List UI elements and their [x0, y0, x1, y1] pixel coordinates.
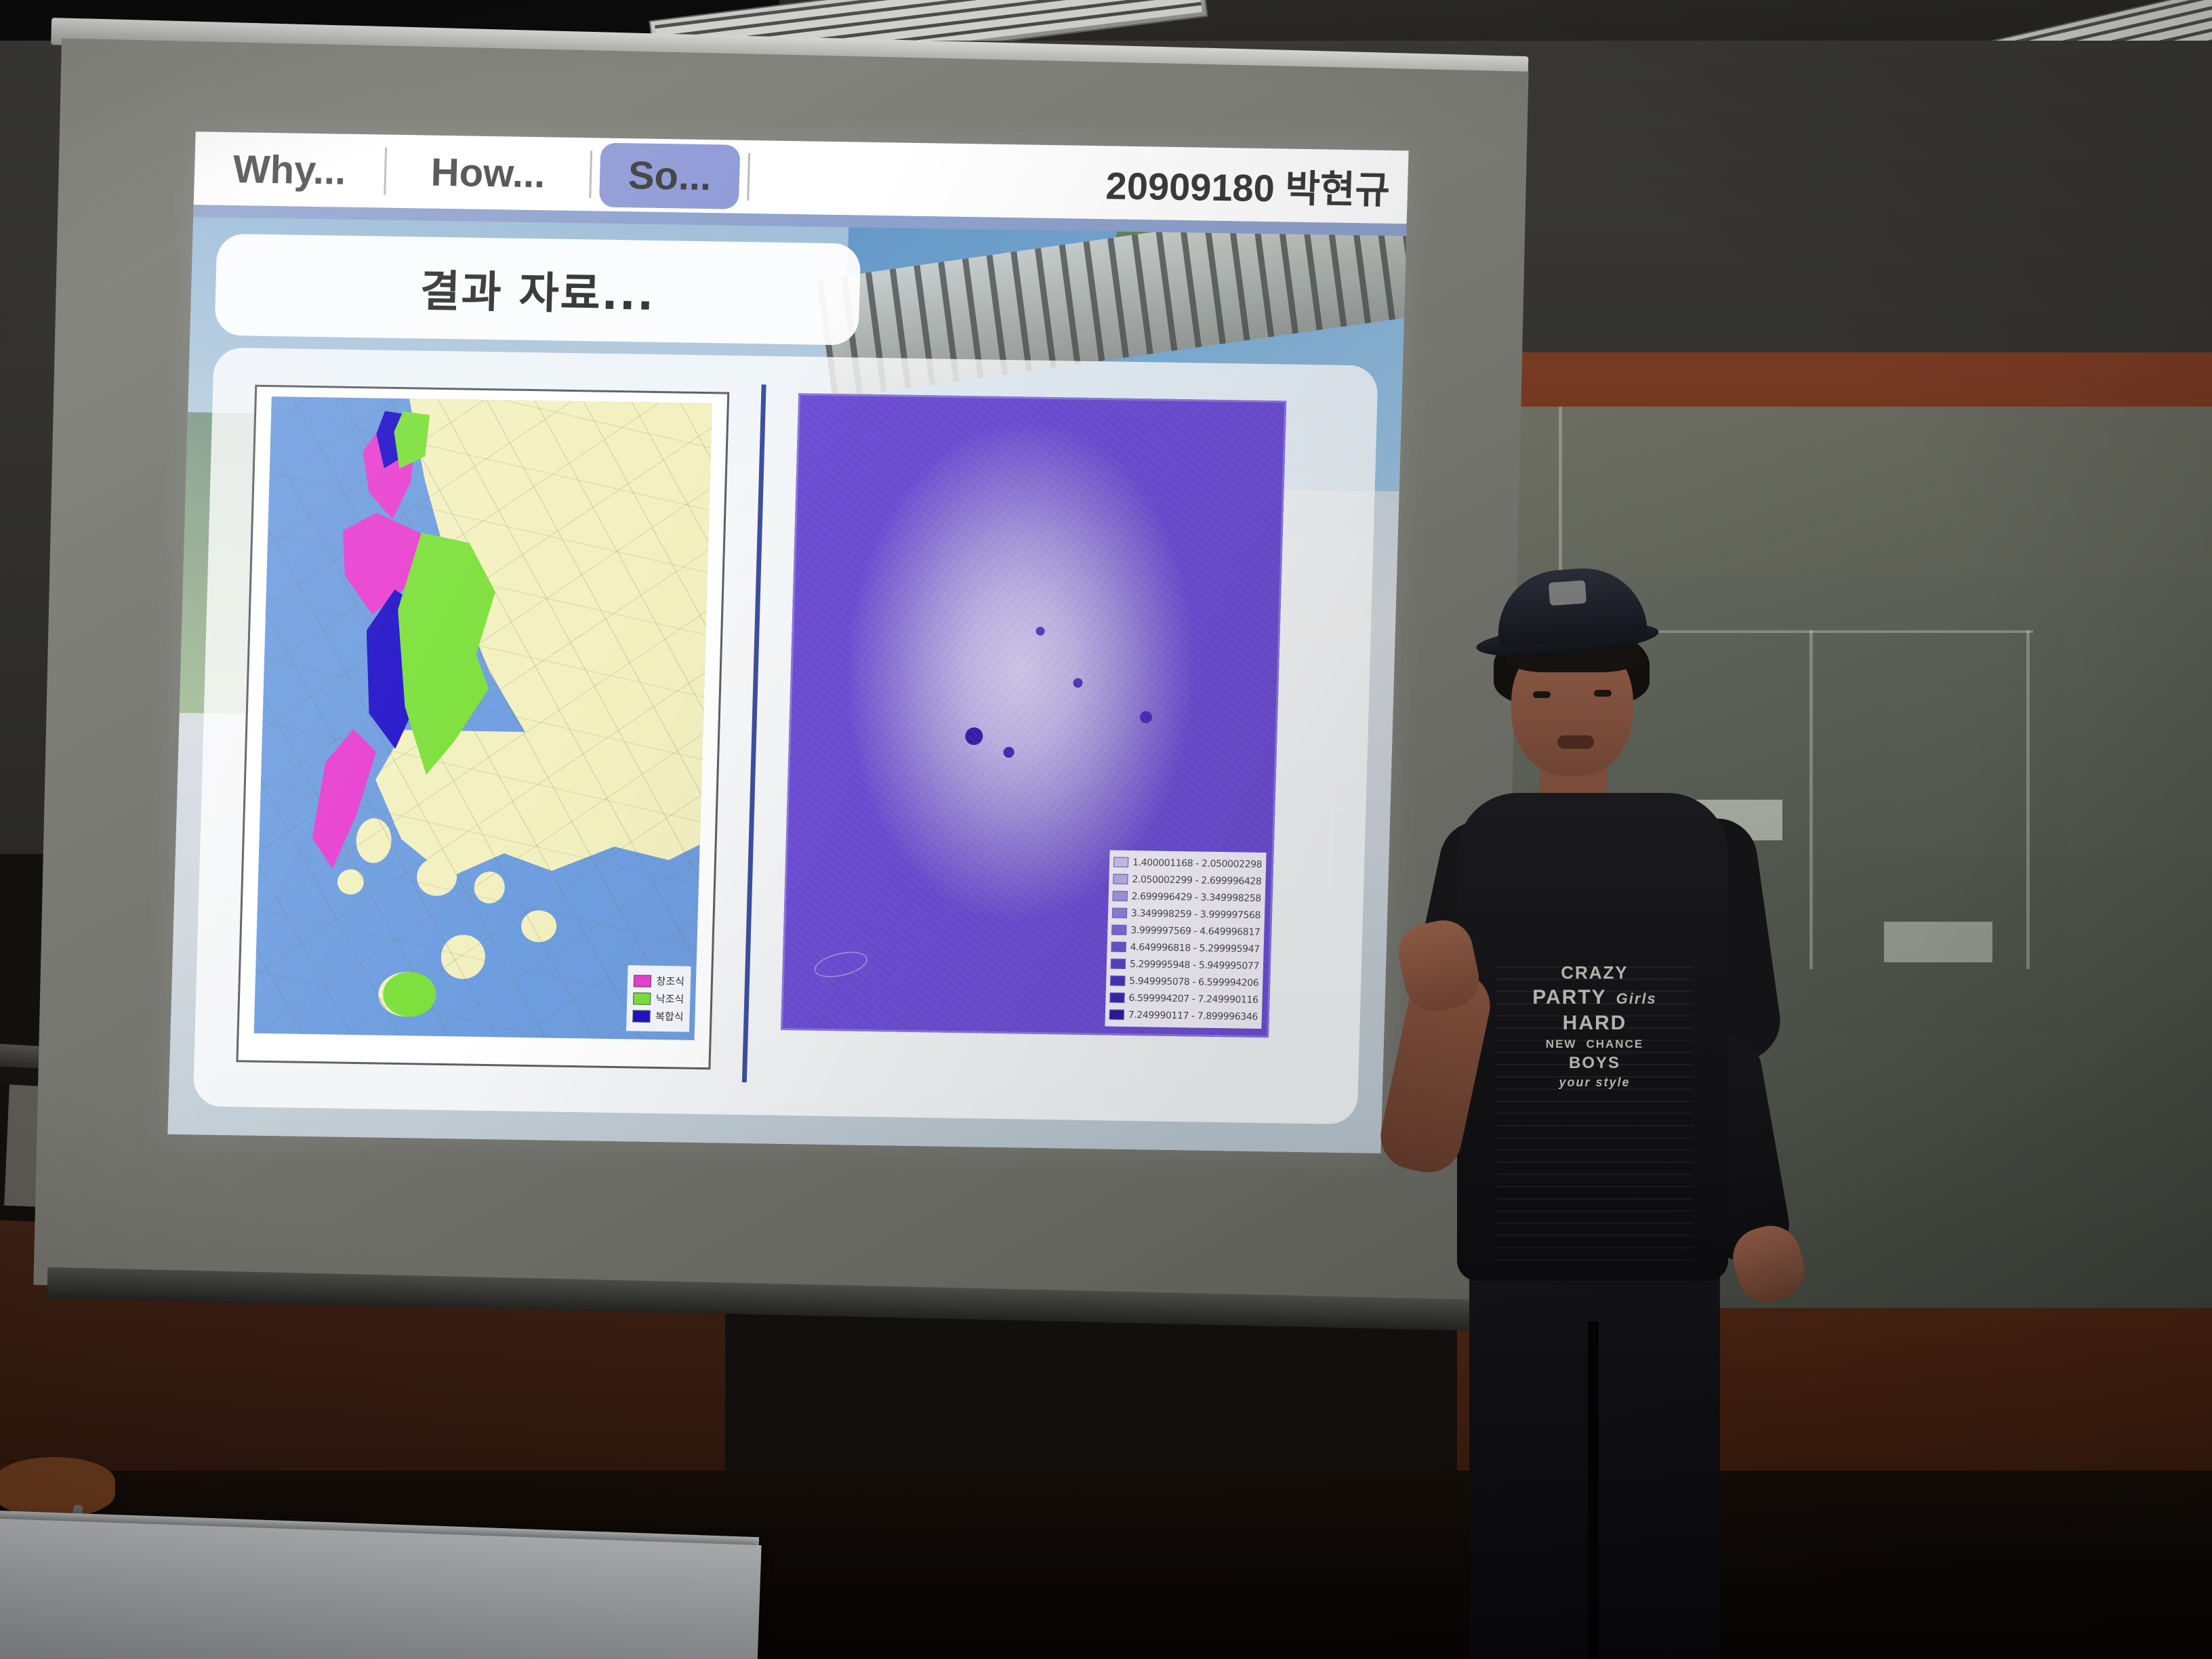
shirt-text-boys: BOYS: [1569, 1054, 1620, 1073]
legend-label: 2.699996429 - 3.349998258: [1132, 890, 1261, 903]
legend-label: 4.649996818 - 5.299995947: [1130, 941, 1259, 954]
legend-row: 2.050002299 - 2.699996428: [1113, 871, 1262, 890]
nav-tab-how[interactable]: How...: [386, 135, 591, 211]
legend-swatch-class-2: [1113, 874, 1128, 884]
legend-label: 5.299995948 - 5.949995077: [1130, 958, 1259, 971]
presenter-shirt-graphic: CRAZY PARTY Girls HARD NEW CHANCE BOYS y…: [1496, 962, 1693, 1261]
presenter-person: CRAZY PARTY Girls HARD NEW CHANCE BOYS y…: [1382, 562, 1857, 1659]
legend-label: 3.349998259 - 3.999997568: [1131, 907, 1261, 920]
shirt-text-yourstyle: your style: [1559, 1076, 1630, 1090]
slide-author: 20909180 박현규: [749, 150, 1408, 215]
legend-swatch-class-8: [1110, 975, 1125, 985]
legend-swatch-magenta: [633, 975, 651, 987]
legend-swatch-class-10: [1109, 1009, 1124, 1019]
legend-row: 7.249990117 - 7.899996346: [1109, 1006, 1258, 1025]
presenter-cap-logo: [1549, 580, 1586, 606]
legend-row: 3.999997569 - 4.649996817: [1111, 922, 1261, 941]
legend-row: 복합식: [632, 1008, 684, 1023]
right-raster-card: 1.400001168 - 2.050002298 2.050002299 - …: [781, 393, 1286, 1038]
legend-label: 3.999997569 - 4.649996817: [1130, 924, 1260, 937]
presenter-eye-left: [1533, 691, 1551, 698]
nav-tab-so-label: So...: [599, 142, 741, 209]
slide-title: 결과 자료...: [419, 256, 656, 322]
glass-divider-line: [2026, 630, 2030, 969]
left-map-card: 창조식 낙조식 복합식: [236, 385, 729, 1070]
nav-tab-why[interactable]: Why...: [194, 131, 386, 207]
legend-row: 5.299995948 - 5.949995077: [1111, 956, 1260, 975]
map-county-boundaries: [254, 396, 712, 1040]
shirt-text-hard: HARD: [1563, 1012, 1627, 1035]
presenter-mouth: [1557, 735, 1594, 749]
legend-label: 낙조식: [656, 991, 684, 1006]
legend-row: 2.699996429 - 3.349998258: [1112, 888, 1261, 907]
legend-swatch-class-5: [1111, 925, 1126, 935]
legend-swatch-class-3: [1113, 891, 1128, 901]
legend-swatch-blue: [632, 1010, 651, 1022]
legend-row: 6.599994207 - 7.249990116: [1109, 989, 1258, 1008]
glass-reflection: [1884, 922, 1992, 962]
legend-label: 복합식: [655, 1009, 684, 1024]
shirt-text-chance: CHANCE: [1586, 1038, 1643, 1051]
nav-tab-how-label: How...: [430, 149, 546, 197]
legend-label: 6.599994207 - 7.249990116: [1128, 992, 1258, 1005]
legend-label: 2.050002299 - 2.699996428: [1132, 874, 1261, 886]
left-map-canvas: 창조식 낙조식 복합식: [254, 396, 712, 1040]
left-map-legend: 창조식 낙조식 복합식: [626, 965, 691, 1031]
legend-swatch-green: [633, 992, 651, 1004]
legend-swatch-class-7: [1111, 959, 1126, 969]
presenter-eye-right: [1594, 690, 1612, 697]
stool-seat: [0, 1457, 115, 1518]
shirt-text-crazy: CRAZY: [1561, 962, 1629, 983]
legend-row: 창조식: [633, 973, 684, 988]
slide-title-pill: 결과 자료...: [214, 234, 861, 346]
legend-label: 창조식: [656, 974, 684, 989]
legend-row: 1.400001168 - 2.050002298: [1113, 854, 1263, 873]
presenter-cap: [1494, 564, 1648, 647]
legend-label: 5.949995078 - 6.599994206: [1129, 975, 1258, 988]
presentation-slide: Why... How... So... 20909180 박현규 결과 자료..…: [167, 131, 1408, 1153]
legend-row: 4.649996818 - 5.299995947: [1111, 939, 1260, 958]
shirt-text-new: NEW: [1546, 1038, 1577, 1051]
map-zone-green: [382, 972, 436, 1017]
right-map-legend: 1.400001168 - 2.050002298 2.050002299 - …: [1105, 850, 1266, 1029]
legend-row: 5.949995078 - 6.599994206: [1110, 972, 1259, 991]
legend-label: 7.249990117 - 7.899996346: [1128, 1009, 1258, 1022]
legend-swatch-class-6: [1111, 942, 1126, 952]
legend-swatch-class-9: [1109, 992, 1124, 1002]
nav-tab-so[interactable]: So...: [591, 138, 749, 213]
legend-swatch-class-1: [1113, 857, 1128, 867]
legend-row: 낙조식: [633, 991, 684, 1006]
shirt-text-party: PARTY: [1532, 986, 1606, 1009]
legend-swatch-class-4: [1112, 908, 1127, 918]
legend-row: 3.349998259 - 3.999997568: [1112, 905, 1261, 924]
shirt-text-girls: Girls: [1616, 990, 1657, 1008]
presenter-leg-gap: [1588, 1322, 1599, 1659]
nav-tab-why-label: Why...: [232, 146, 346, 194]
legend-label: 1.400001168 - 2.050002298: [1132, 857, 1262, 870]
classroom-scene: Why... How... So... 20909180 박현규 결과 자료..…: [0, 0, 2212, 1659]
